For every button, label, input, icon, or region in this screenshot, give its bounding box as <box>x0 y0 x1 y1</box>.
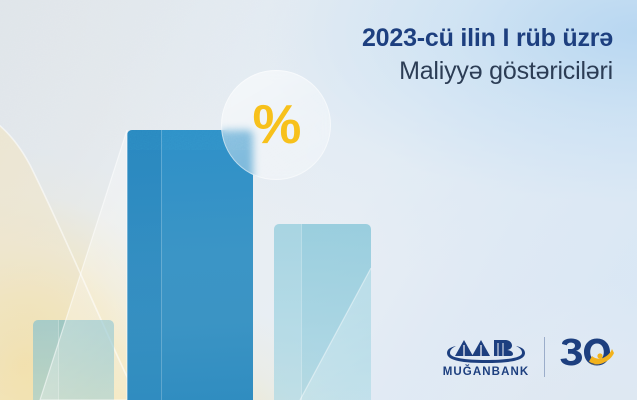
logo-divider <box>544 337 545 377</box>
brand-logo: MUĞANBANK <box>442 337 530 379</box>
anniversary-30-icon <box>559 338 615 376</box>
headline-block: 2023-cü ilin I rüb üzrə Maliyyə göstəric… <box>362 24 613 86</box>
bar-facet <box>274 224 301 400</box>
chart-bar-left <box>33 320 114 400</box>
headline-primary: 2023-cü ilin I rüb üzrə <box>362 24 613 54</box>
chart-bar-right <box>274 224 371 400</box>
bar-facet <box>33 320 58 400</box>
chart-bar-middle <box>127 130 253 400</box>
bar-seam <box>161 130 162 400</box>
bar-seam <box>301 224 302 400</box>
brand-wordmark: MUĞANBANK <box>443 367 530 379</box>
headline-secondary: Maliyyə göstəriciləri <box>362 56 613 87</box>
promo-banner: % 2023-cü ilin I rüb üzrə Maliyyə göstər… <box>0 0 637 400</box>
percent-badge: % <box>221 70 331 180</box>
percent-icon: % <box>253 97 300 152</box>
muganbank-mountain-mark-icon <box>442 337 530 364</box>
logo-lockup: MUĞANBANK <box>442 337 615 379</box>
bar-facet <box>127 130 161 400</box>
anniversary-badge <box>559 338 615 376</box>
bar-seam <box>58 320 59 400</box>
